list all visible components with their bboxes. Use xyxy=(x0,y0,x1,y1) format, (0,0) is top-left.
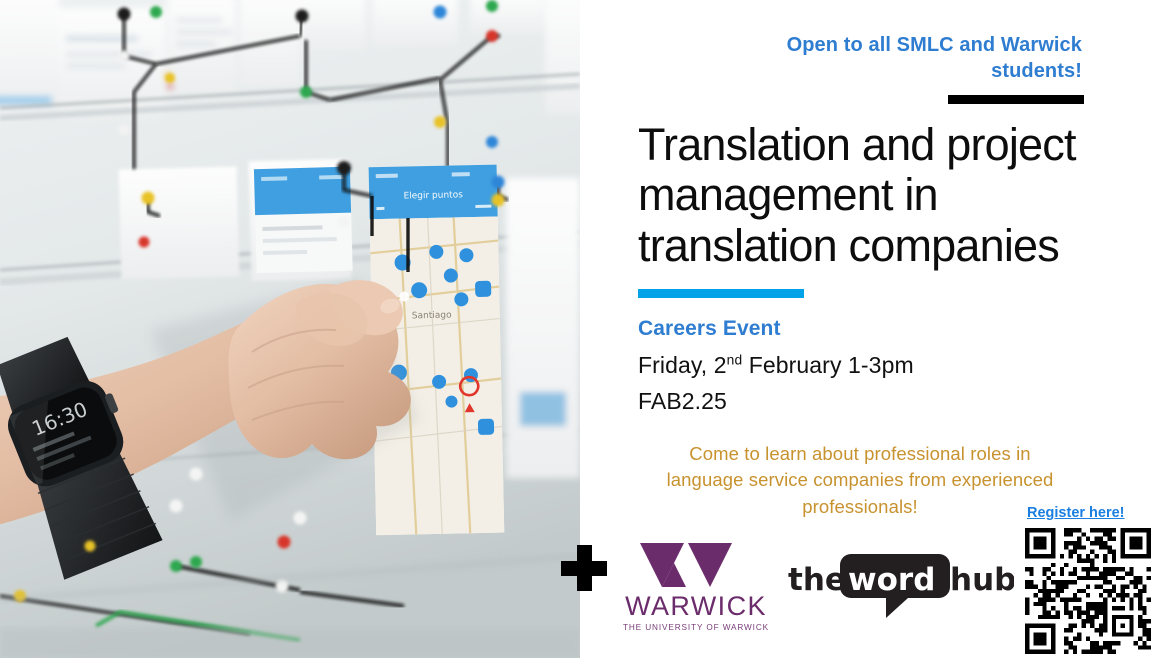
event-poster: Elegir puntos xyxy=(0,0,1170,658)
plus-icon xyxy=(561,545,607,591)
warwick-w-mark xyxy=(640,543,732,587)
wordhub-the-text: the xyxy=(788,562,846,598)
wordhub-word-text: word xyxy=(848,562,935,598)
event-type-label: Careers Event xyxy=(638,317,781,341)
qr-code-image xyxy=(1025,528,1151,654)
wordhub-hub-text: hub xyxy=(950,562,1014,598)
page-title: Translation and project management in tr… xyxy=(638,120,1108,271)
event-date-prefix: Friday, 2 xyxy=(638,352,727,378)
date-ordinal-suffix: nd xyxy=(727,352,743,367)
wordhub-logo: the word hub xyxy=(782,548,1014,620)
event-description: Come to learn about professional roles i… xyxy=(650,441,1070,520)
warwick-tagline-text: THE UNIVERSITY OF WARWICK xyxy=(623,623,769,632)
photo-illustration: Elegir puntos xyxy=(0,0,580,658)
warwick-logo: WARWICK THE UNIVERSITY OF WARWICK xyxy=(622,537,770,637)
register-link[interactable]: Register here! xyxy=(1027,505,1125,521)
audience-eyebrow: Open to all SMLC and Warwick students! xyxy=(752,32,1082,85)
svg-text:Elegir puntos: Elegir puntos xyxy=(403,190,463,201)
event-time: February 1-3pm xyxy=(742,352,914,378)
warwick-wordmark-text: WARWICK xyxy=(625,591,767,621)
black-divider-rule xyxy=(948,95,1084,104)
registration-qr-code[interactable] xyxy=(1025,528,1151,654)
event-location: FAB2.25 xyxy=(638,388,727,415)
wordhub-logo-svg: the word hub xyxy=(782,548,1014,620)
plus-vertical-bar xyxy=(577,545,592,591)
warwick-logo-svg: WARWICK THE UNIVERSITY OF WARWICK xyxy=(622,537,770,637)
event-datetime: Friday, 2nd February 1-3pm xyxy=(638,352,914,379)
svg-text:Santiago: Santiago xyxy=(412,311,452,322)
blue-accent-rule xyxy=(638,289,804,298)
hero-photo: Elegir puntos xyxy=(0,0,580,658)
